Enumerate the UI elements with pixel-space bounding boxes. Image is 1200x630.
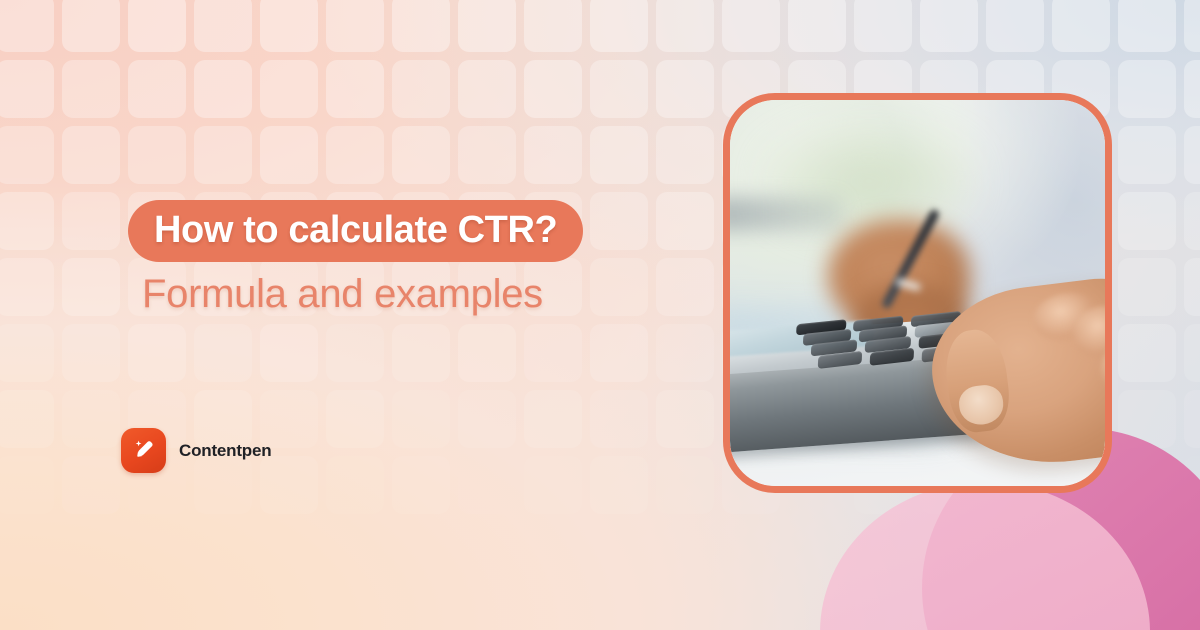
grid-cell: [392, 324, 450, 382]
grid-cell: [524, 126, 582, 184]
grid-cell: [62, 60, 120, 118]
grid-cell: [854, 0, 912, 52]
grid-cell: [128, 324, 186, 382]
sparkle-pen-icon: [121, 428, 166, 473]
grid-cell: [458, 0, 516, 52]
grid-cell: [326, 324, 384, 382]
grid-cell: [194, 0, 252, 52]
grid-cell: [1118, 126, 1176, 184]
grid-cell: [656, 192, 714, 250]
grid-cell: [1184, 126, 1200, 184]
grid-cell: [590, 60, 648, 118]
grid-cell: [1118, 0, 1176, 52]
grid-cell: [326, 60, 384, 118]
grid-cell: [590, 324, 648, 382]
grid-cell: [590, 192, 648, 250]
grid-cell: [392, 0, 450, 52]
grid-cell: [656, 0, 714, 52]
grid-cell: [1184, 390, 1200, 448]
grid-cell: [590, 126, 648, 184]
grid-cell: [326, 126, 384, 184]
grid-cell: [524, 60, 582, 118]
grid-cell: [458, 456, 516, 514]
grid-cell: [392, 126, 450, 184]
grid-cell: [656, 390, 714, 448]
grid-cell: [62, 456, 120, 514]
grid-cell: [128, 60, 186, 118]
brand-name: Contentpen: [179, 441, 271, 461]
grid-cell: [458, 324, 516, 382]
grid-cell: [0, 390, 54, 448]
grid-cell: [656, 456, 714, 514]
grid-cell: [524, 456, 582, 514]
grid-cell: [62, 0, 120, 52]
grid-cell: [590, 456, 648, 514]
grid-cell: [524, 0, 582, 52]
grid-cell: [920, 0, 978, 52]
grid-cell: [0, 60, 54, 118]
grid-cell: [0, 0, 54, 52]
grid-cell: [260, 126, 318, 184]
grid-cell: [392, 456, 450, 514]
headline-block: How to calculate CTR? Formula and exampl…: [128, 200, 583, 315]
grid-cell: [722, 0, 780, 52]
grid-cell: [656, 258, 714, 316]
grid-cell: [0, 126, 54, 184]
grid-cell: [1184, 192, 1200, 250]
grid-cell: [194, 60, 252, 118]
hero-photo-card: [723, 93, 1112, 493]
grid-cell: [128, 126, 186, 184]
page-title: How to calculate CTR?: [128, 200, 583, 262]
grid-cell: [62, 192, 120, 250]
grid-cell: [1184, 60, 1200, 118]
grid-cell: [62, 258, 120, 316]
hand-pressing-calculator-photo: [730, 100, 1105, 486]
grid-cell: [1118, 258, 1176, 316]
grid-cell: [656, 60, 714, 118]
grid-cell: [326, 390, 384, 448]
grid-cell: [62, 126, 120, 184]
grid-cell: [0, 456, 54, 514]
grid-cell: [1052, 0, 1110, 52]
grid-cell: [392, 390, 450, 448]
grid-cell: [1184, 324, 1200, 382]
grid-cell: [1118, 192, 1176, 250]
grid-cell: [458, 126, 516, 184]
grid-cell: [0, 324, 54, 382]
grid-cell: [0, 192, 54, 250]
grid-cell: [986, 0, 1044, 52]
page-subtitle: Formula and examples: [142, 273, 583, 315]
grid-cell: [1184, 258, 1200, 316]
grid-cell: [656, 126, 714, 184]
grid-cell: [260, 324, 318, 382]
brand-lockup[interactable]: Contentpen: [121, 428, 271, 473]
grid-cell: [788, 0, 846, 52]
grid-cell: [524, 390, 582, 448]
calculator-key: [818, 352, 863, 370]
grid-cell: [260, 0, 318, 52]
grid-cell: [194, 324, 252, 382]
grid-cell: [656, 324, 714, 382]
grid-cell: [392, 60, 450, 118]
grid-cell: [260, 60, 318, 118]
grid-cell: [0, 258, 54, 316]
grid-cell: [62, 324, 120, 382]
grid-cell: [1184, 0, 1200, 52]
grid-cell: [458, 60, 516, 118]
grid-cell: [590, 258, 648, 316]
grid-cell: [590, 390, 648, 448]
grid-cell: [62, 390, 120, 448]
grid-cell: [458, 390, 516, 448]
grid-cell: [326, 456, 384, 514]
grid-cell: [128, 0, 186, 52]
grid-cell: [524, 324, 582, 382]
grid-cell: [1118, 60, 1176, 118]
banner-canvas: How to calculate CTR? Formula and exampl…: [0, 0, 1200, 630]
grid-cell: [326, 0, 384, 52]
grid-cell: [194, 126, 252, 184]
grid-cell: [590, 0, 648, 52]
grid-cell: [1118, 324, 1176, 382]
